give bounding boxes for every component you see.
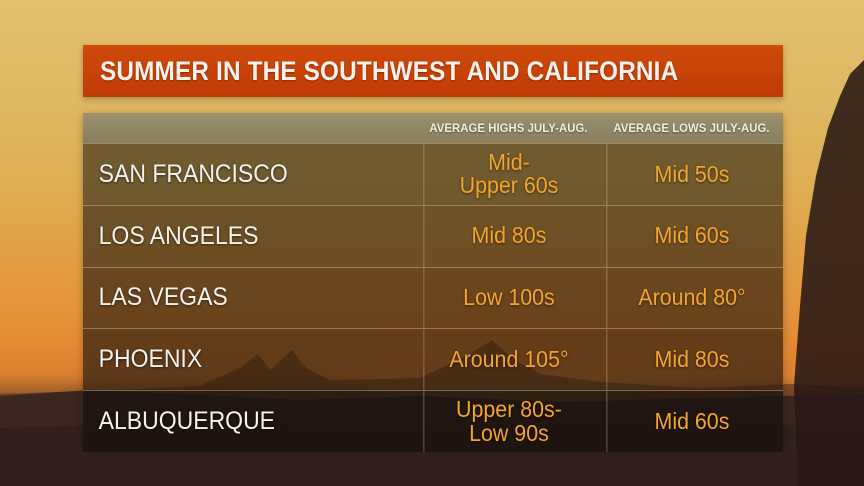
table-row: LAS VEGAS Low 100s Around 80° [83,267,783,329]
value-lows: Mid 50s [606,144,776,205]
column-header-lows: AVERAGE LOWS JULY-AUG. [605,121,777,135]
city-name: ALBUQUERQUE [83,391,390,452]
table-row: PHOENIX Around 105° Mid 80s [83,328,783,390]
title-bar: SUMMER IN THE SOUTHWEST AND CALIFORNIA [83,45,783,97]
page-title: SUMMER IN THE SOUTHWEST AND CALIFORNIA [100,56,678,87]
city-name: LAS VEGAS [83,268,390,329]
value-highs: Mid 80s [423,206,593,267]
value-highs: Upper 80s- Low 90s [423,391,593,452]
value-lows: Around 80° [606,268,776,329]
table-row: SAN FRANCISCO Mid- Upper 60s Mid 50s [83,143,783,205]
city-name: LOS ANGELES [83,206,390,267]
value-lows: Mid 60s [606,206,776,267]
column-header-highs: AVERAGE HIGHS JULY-AUG. [422,121,594,135]
weather-graphic: SUMMER IN THE SOUTHWEST AND CALIFORNIA A… [0,0,864,486]
table-header-row: AVERAGE HIGHS JULY-AUG. AVERAGE LOWS JUL… [83,113,783,143]
city-name: PHOENIX [83,329,390,390]
value-highs: Around 105° [423,329,593,390]
value-highs: Low 100s [423,268,593,329]
value-highs: Mid- Upper 60s [423,144,593,205]
value-lows: Mid 80s [606,329,776,390]
city-name: SAN FRANCISCO [83,144,390,205]
table-row: ALBUQUERQUE Upper 80s- Low 90s Mid 60s [83,390,783,452]
table-row: LOS ANGELES Mid 80s Mid 60s [83,205,783,267]
temperature-table: AVERAGE HIGHS JULY-AUG. AVERAGE LOWS JUL… [83,113,783,447]
value-lows: Mid 60s [606,391,776,452]
